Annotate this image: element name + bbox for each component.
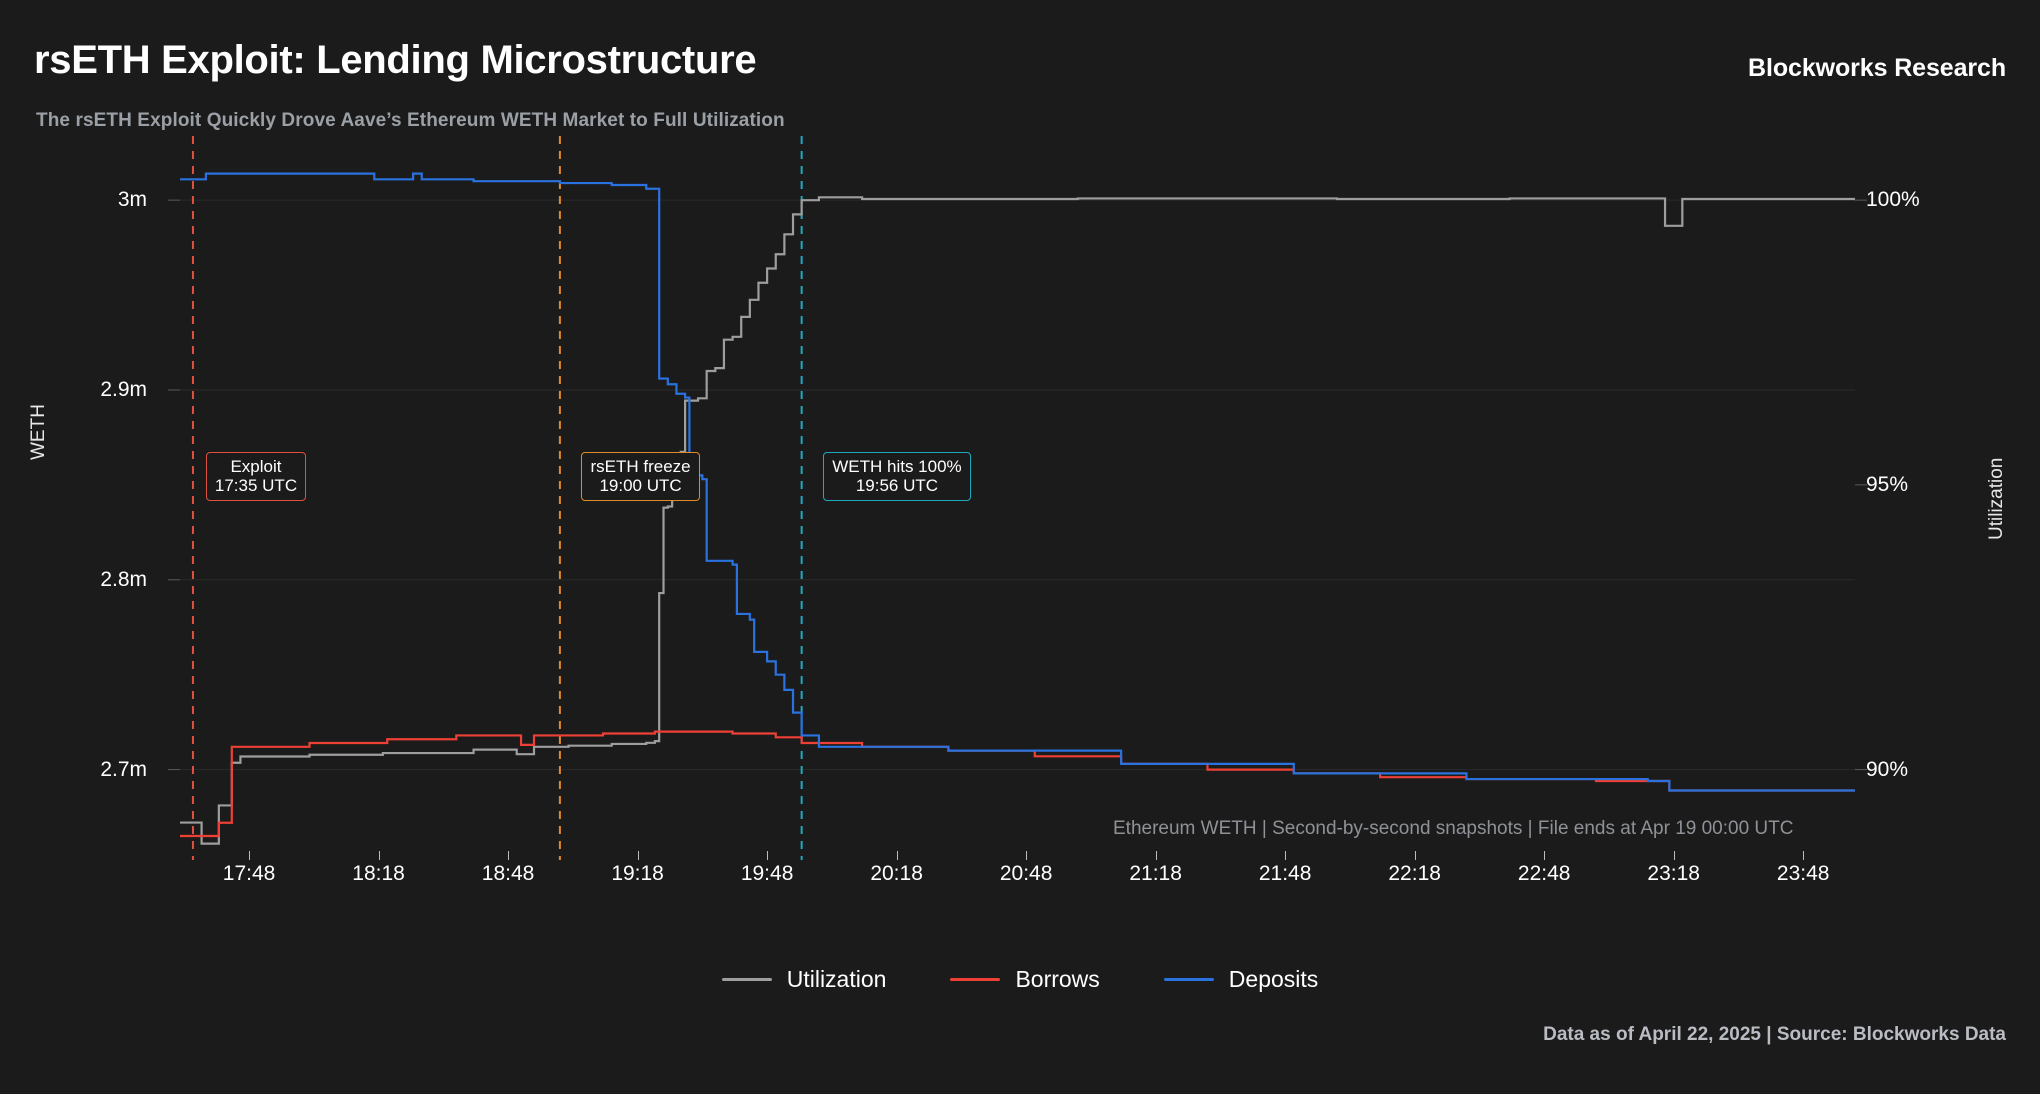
chart-page: rsETH Exploit: Lending Microstructure Th… (0, 0, 2040, 1094)
annotation-label: WETH hits 100%19:56 UTC (823, 452, 970, 501)
annotation-time: 17:35 UTC (215, 476, 297, 495)
x-tick-mark (897, 851, 898, 860)
x-tick-label: 20:48 (1000, 862, 1053, 886)
x-tick-mark (508, 851, 509, 860)
x-tick-label: 18:48 (482, 862, 535, 886)
y-tick-label-left: 2.9m (100, 378, 147, 402)
y-tick-label-right: 95% (1866, 473, 1908, 497)
x-tick-mark (638, 851, 639, 860)
y-axis-left-title: WETH (28, 404, 50, 460)
x-tick-mark (1674, 851, 1675, 860)
annotation-label: rsETH freeze19:00 UTC (581, 452, 699, 501)
x-tick-label: 19:48 (741, 862, 794, 886)
y-tick-label-right: 100% (1866, 188, 1920, 212)
source-note: Data as of April 22, 2025 | Source: Bloc… (1543, 1024, 2006, 1046)
legend-item[interactable]: Borrows (950, 966, 1099, 993)
x-tick-label: 20:18 (870, 862, 923, 886)
x-tick-label: 18:18 (352, 862, 405, 886)
x-tick-label: 17:48 (223, 862, 276, 886)
y-axis-right-title: Utilization (1986, 458, 2008, 540)
legend-item[interactable]: Deposits (1164, 966, 1318, 993)
annotation-time: 19:56 UTC (832, 476, 961, 495)
legend-label: Utilization (787, 966, 887, 993)
x-tick-mark (1285, 851, 1286, 860)
x-tick-label: 19:18 (611, 862, 664, 886)
x-tick-mark (379, 851, 380, 860)
chart-canvas (0, 0, 2040, 1094)
x-tick-mark (767, 851, 768, 860)
series-line-utilization (180, 197, 1855, 843)
annotation-name: Exploit (215, 457, 297, 476)
annotation-name: rsETH freeze (590, 457, 690, 476)
x-tick-label: 23:48 (1777, 862, 1830, 886)
legend-label: Deposits (1229, 966, 1318, 993)
annotation-time: 19:00 UTC (590, 476, 690, 495)
x-tick-label: 23:18 (1647, 862, 1700, 886)
annotation-name: WETH hits 100% (832, 457, 961, 476)
chart-legend: UtilizationBorrowsDeposits (0, 966, 2040, 993)
legend-label: Borrows (1015, 966, 1099, 993)
y-tick-label-right: 90% (1866, 758, 1908, 782)
legend-swatch-icon (1164, 978, 1214, 981)
x-tick-mark (1803, 851, 1804, 860)
y-tick-label-left: 3m (118, 188, 147, 212)
annotation-label: Exploit17:35 UTC (206, 452, 306, 501)
x-tick-label: 22:48 (1518, 862, 1571, 886)
legend-item[interactable]: Utilization (722, 966, 887, 993)
x-tick-label: 21:18 (1129, 862, 1182, 886)
x-tick-label: 21:48 (1259, 862, 1312, 886)
legend-swatch-icon (950, 978, 1000, 981)
y-tick-label-left: 2.8m (100, 568, 147, 592)
x-tick-label: 22:18 (1388, 862, 1441, 886)
x-tick-mark (249, 851, 250, 860)
x-tick-mark (1544, 851, 1545, 860)
x-tick-mark (1026, 851, 1027, 860)
x-tick-mark (1415, 851, 1416, 860)
legend-swatch-icon (722, 978, 772, 981)
x-tick-mark (1156, 851, 1157, 860)
plot-note: Ethereum WETH | Second-by-second snapsho… (1113, 818, 1793, 840)
series-line-deposits (180, 174, 1855, 791)
y-tick-label-left: 2.7m (100, 758, 147, 782)
